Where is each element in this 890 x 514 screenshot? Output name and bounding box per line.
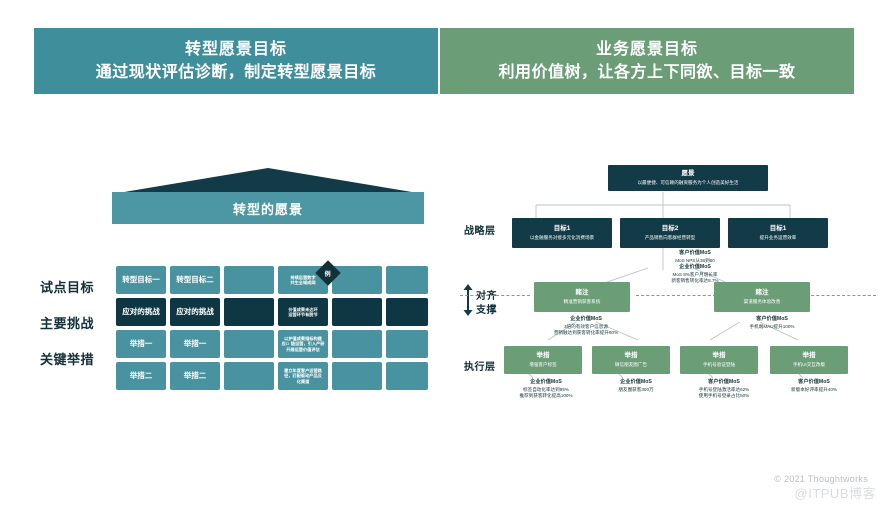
initiative-3-mos-head: 客户价值MoS xyxy=(676,379,772,387)
watermark-text: @ITPUB博客 xyxy=(795,483,876,502)
grid-cell[interactable]: 举措二 xyxy=(170,362,220,390)
tree-node-goal-2[interactable]: 目标2 产品销售向客群经营转型 xyxy=(620,218,720,248)
grid-cell[interactable] xyxy=(386,298,428,326)
initiative-3-mos-block: 客户价值MoS 手机号登陆激活率达62% 使用手机号登录占比50% xyxy=(676,379,772,400)
grid-cell[interactable] xyxy=(224,298,274,326)
grid-cell[interactable]: 应对的挑战 xyxy=(170,298,220,326)
vision-banner-label: 转型的愿景 xyxy=(112,192,424,224)
initiative-1-mos-line-2: 推荐到获客转化提高100% xyxy=(498,393,594,400)
tree-node-initiative-2[interactable]: 举措 微信朋友圈广告 xyxy=(592,346,670,374)
grid-cell[interactable] xyxy=(332,362,382,390)
grid-cell[interactable]: 举措二 xyxy=(116,362,166,390)
banner-business-vision: 业务愿景目标 利用价值树，让各方上下同欲、目标一致 xyxy=(440,28,854,94)
grid-cell[interactable]: 价值成果未达环 运营环节有脱节 xyxy=(278,298,328,326)
bet-1-mos-block: 企业价值MoS 3倍的有效客户信息源 营销触达到获客转化率提升60% xyxy=(506,316,666,337)
tree-node-goal-1[interactable]: 目标1 以金融服务对接多元化消费场景 xyxy=(512,218,612,248)
grid-cell[interactable]: 转型目标一 xyxy=(116,266,166,294)
initiative-2-title: 举措 xyxy=(625,352,638,360)
banner-right-title: 业务愿景目标 xyxy=(596,40,698,60)
initiative-2-mos-head: 企业价值MoS xyxy=(588,379,684,387)
vision-node-title: 愿景 xyxy=(682,170,695,178)
initiative-2-subtitle: 微信朋友圈广告 xyxy=(615,362,647,368)
goal-mos-line-3: 企业价值MoS xyxy=(630,264,760,272)
goal-1-subtitle: 以金融服务对接多元化消费场景 xyxy=(530,235,594,241)
grid-cell[interactable]: 举措一 xyxy=(116,330,166,358)
alignment-dashed-line-right xyxy=(806,295,876,296)
initiative-3-mos-line-2: 使用手机号登录占比50% xyxy=(676,393,772,400)
alignment-dashed-line-mid xyxy=(636,295,716,296)
bet-2-title: 赌注 xyxy=(756,289,769,297)
bet-1-mos-line-2: 营销触达到获客转化率提升60% xyxy=(506,330,666,337)
initiative-4-title: 举措 xyxy=(803,352,816,360)
grid-cell[interactable]: 举措一 xyxy=(170,330,220,358)
tree-node-initiative-1[interactable]: 举措 增强客户标签 xyxy=(504,346,582,374)
initiative-4-subtitle: 手机UI交互改版 xyxy=(793,362,825,368)
goal-3-subtitle: 提升业务运营效率 xyxy=(760,235,797,241)
banner-left-subtitle: 通过现状评估诊断，制定转型愿景目标 xyxy=(96,63,377,83)
grid-cell[interactable]: 转型目标二 xyxy=(170,266,220,294)
initiative-4-mos-block: 客户价值MoS 新版本好评率提升40% xyxy=(766,379,862,393)
example-badge-label: 例 xyxy=(325,268,331,277)
initiative-3-title: 举措 xyxy=(713,352,726,360)
banner-right-subtitle: 利用价值树，让各方上下同欲、目标一致 xyxy=(498,63,795,83)
bet-1-subtitle: 精准营销获客系统 xyxy=(564,299,601,305)
initiative-3-subtitle: 手机号验证登陆 xyxy=(703,362,735,368)
row-label-pilot-goal: 试点目标 xyxy=(40,272,110,300)
grid-cell[interactable] xyxy=(224,362,274,390)
grid-cell[interactable] xyxy=(332,330,382,358)
initiative-4-mos-head: 客户价值MoS xyxy=(766,379,862,387)
grid-cell[interactable]: 建立年度客户运营路 径，匹配驱动产品及 化渠道 xyxy=(278,362,328,390)
grid-cell[interactable] xyxy=(224,266,274,294)
goal-mos-block: 客户价值MoS MoS NPS从38到60 企业价值MoS MoS 8%客户月增… xyxy=(630,250,760,285)
tree-node-initiative-3[interactable]: 举措 手机号验证登陆 xyxy=(680,346,758,374)
goal-1-title: 目标1 xyxy=(554,225,571,233)
initiative-1-subtitle: 增强客户标签 xyxy=(529,362,557,368)
grid-cell[interactable] xyxy=(386,362,428,390)
tree-node-bet-1[interactable]: 赌注 精准营销获客系统 xyxy=(534,282,630,312)
vision-roof-shape xyxy=(112,168,424,194)
goal-mos-line-1: 客户价值MoS xyxy=(630,250,760,258)
initiative-2-mos-block: 企业价值MoS 朋友圈获客300万 xyxy=(588,379,684,393)
bet-2-subtitle: 渠道服务体验改善 xyxy=(744,299,781,305)
initiative-4-mos-line-1: 新版本好评率提升40% xyxy=(766,387,862,394)
row-label-main-challenge: 主要挑战 xyxy=(40,308,110,336)
tree-node-bet-2[interactable]: 赌注 渠道服务体验改善 xyxy=(714,282,810,312)
bet-2-mos-block: 客户价值MoS 手机端MAU提升100% xyxy=(692,316,852,330)
grid-cell[interactable] xyxy=(386,330,428,358)
tree-node-initiative-4[interactable]: 举措 手机UI交互改版 xyxy=(770,346,848,374)
initiative-1-mos-head: 企业价值MoS xyxy=(498,379,594,387)
alignment-dashed-line-left xyxy=(460,295,530,296)
banner-transformation-vision: 转型愿景目标 通过现状评估诊断，制定转型愿景目标 xyxy=(34,28,438,94)
grid-cell[interactable] xyxy=(332,266,382,294)
goal-3-title: 目标1 xyxy=(770,225,787,233)
tree-node-vision[interactable]: 愿景 以最便捷、可信赖的融资服务为个人创造美好生活 xyxy=(608,165,768,191)
initiative-2-mos-line-1: 朋友圈获客300万 xyxy=(588,387,684,394)
bet-2-mos-head: 客户价值MoS xyxy=(692,316,852,324)
tree-node-goal-3[interactable]: 目标1 提升业务运营效率 xyxy=(728,218,828,248)
vision-banner-group: 转型的愿景 xyxy=(112,168,424,224)
initiative-1-title: 举措 xyxy=(537,352,550,360)
banner-left-title: 转型愿景目标 xyxy=(185,40,287,60)
grid-cell[interactable]: 以护值成果指标构建 应় 链运营，引入产研 开展运营价值评估 xyxy=(278,330,328,358)
row-label-key-actions: 关键举措 xyxy=(40,344,110,372)
goal-2-subtitle: 产品销售向客群经营转型 xyxy=(645,235,696,241)
grid-cell[interactable] xyxy=(386,266,428,294)
grid-cell[interactable]: 应对的挑战 xyxy=(116,298,166,326)
goal-2-title: 目标2 xyxy=(662,225,679,233)
grid-cell[interactable] xyxy=(332,298,382,326)
bet-1-title: 赌注 xyxy=(576,289,589,297)
bet-2-mos-line-1: 手机端MAU提升100% xyxy=(692,324,852,331)
vision-node-subtitle: 以最便捷、可信赖的融资服务为个人创造美好生活 xyxy=(637,180,738,186)
bet-1-mos-head: 企业价值MoS xyxy=(506,316,666,324)
initiative-1-mos-block: 企业价值MoS 标签自动化率达到95% 推荐到获客转化提高100% xyxy=(498,379,594,400)
grid-cell[interactable] xyxy=(224,330,274,358)
slide-canvas: 转型愿景目标 通过现状评估诊断，制定转型愿景目标 业务愿景目标 利用价值树，让各… xyxy=(0,0,890,514)
